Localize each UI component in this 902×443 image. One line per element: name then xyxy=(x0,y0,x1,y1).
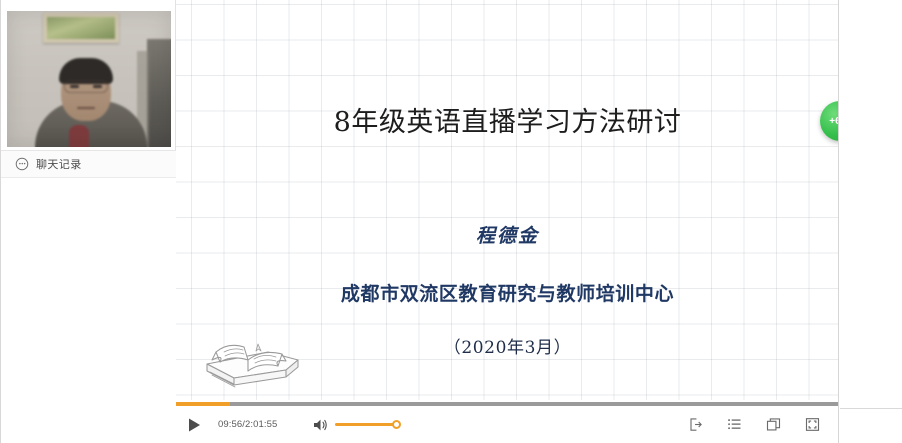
chat-record-label: 聊天记录 xyxy=(36,156,82,172)
left-sidebar: 聊天记录 xyxy=(0,0,176,443)
time-display: 09:56/2:01:55 xyxy=(212,419,277,430)
video-player: 8年级英语直播学习方法研讨 程德金 成都市双流区教育研究与教师培训中心 （202… xyxy=(176,0,839,443)
right-divider-line xyxy=(840,408,902,409)
app-root: 聊天记录 8年级英语直播学习方法研讨 程德金 成都市双流区教育研究与教师培训中心… xyxy=(0,0,902,443)
speaker-icon[interactable] xyxy=(312,417,328,433)
volume-control[interactable] xyxy=(286,417,397,433)
play-button[interactable] xyxy=(185,416,203,434)
green-badge-label: +6 xyxy=(829,116,839,127)
play-icon xyxy=(185,416,203,434)
fullscreen-icon[interactable] xyxy=(805,417,820,432)
stacked-books-sketch-icon xyxy=(194,312,309,397)
share-exit-icon[interactable] xyxy=(688,417,703,432)
chat-record-button[interactable]: 聊天记录 xyxy=(1,150,177,178)
webcam-video[interactable] xyxy=(7,11,171,147)
volume-slider-knob[interactable] xyxy=(392,420,401,429)
webcam-overlay xyxy=(7,11,171,147)
slide-canvas[interactable]: 8年级英语直播学习方法研讨 程德金 成都市双流区教育研究与教师培训中心 （202… xyxy=(176,0,839,400)
player-controls: 09:56/2:01:55 xyxy=(176,406,839,443)
slide-organization: 成都市双流区教育研究与教师培训中心 xyxy=(176,279,839,306)
right-blank-area xyxy=(840,0,902,443)
chat-bubble-icon xyxy=(15,157,29,171)
picture-in-picture-icon[interactable] xyxy=(766,417,781,432)
volume-slider[interactable] xyxy=(335,423,397,426)
sidebar-chat-panel xyxy=(1,178,177,443)
slide-title: 8年级英语直播学习方法研讨 xyxy=(176,107,839,138)
slide-author: 程德金 xyxy=(176,221,839,248)
player-controls-left: 09:56/2:01:55 xyxy=(176,416,397,434)
playlist-icon[interactable] xyxy=(727,417,742,432)
player-controls-right xyxy=(688,417,839,432)
